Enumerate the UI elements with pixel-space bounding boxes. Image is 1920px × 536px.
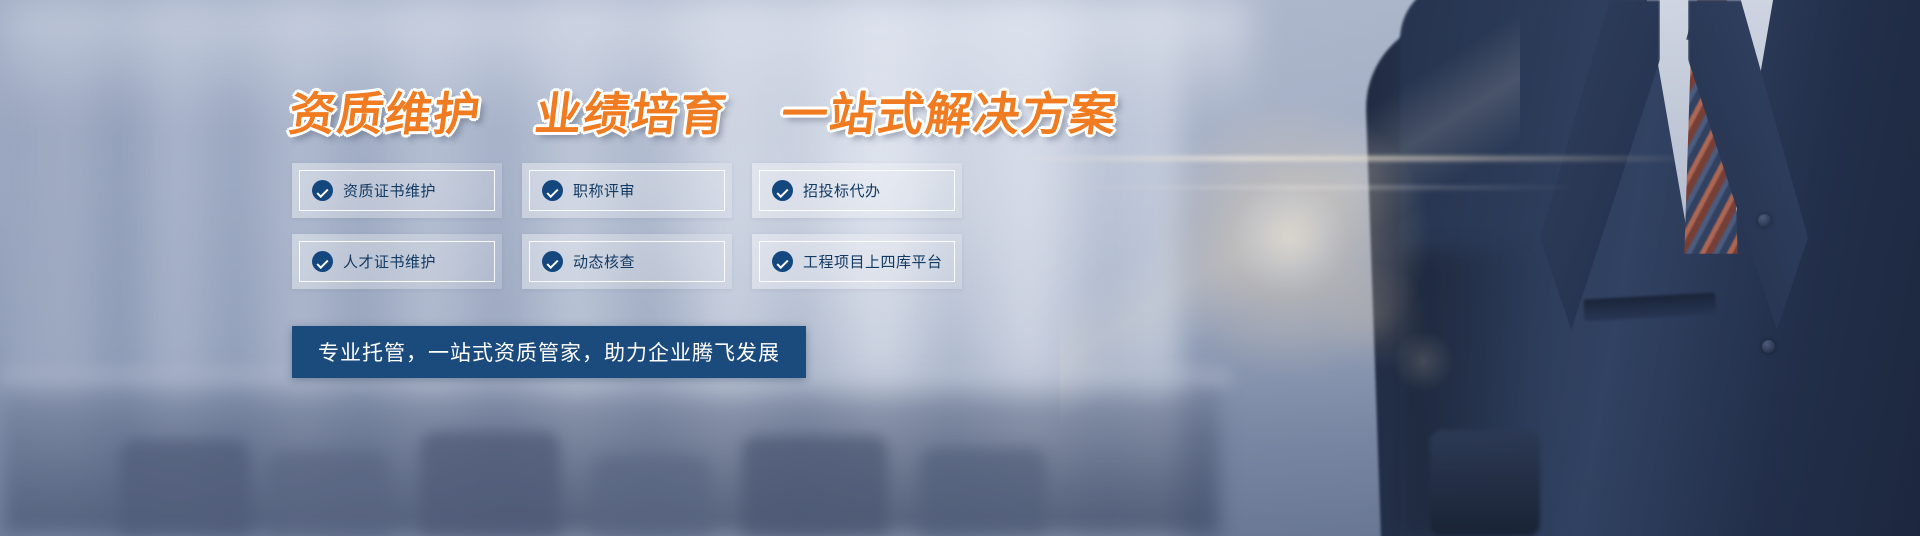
- feature-card-inner: 职称评审: [529, 170, 725, 211]
- check-circle-icon: [772, 251, 793, 272]
- feature-grid: 资质证书维护 职称评审 招投标代办 人才证书维护: [292, 163, 962, 289]
- feature-card-inner: 动态核查: [529, 241, 725, 282]
- feature-label: 工程项目上四库平台: [803, 251, 943, 272]
- feature-label: 动态核查: [573, 251, 635, 272]
- check-circle-icon: [772, 180, 793, 201]
- check-circle-icon: [312, 251, 333, 272]
- check-circle-icon: [312, 180, 333, 201]
- feature-label: 职称评审: [573, 180, 635, 201]
- banner-headline: 资质维护 业绩培育 一站式解决方案: [286, 78, 1122, 144]
- feature-card-dynamic-inspection[interactable]: 动态核查: [522, 234, 732, 289]
- suit-sleeve: [1430, 430, 1540, 536]
- banner-content: 资质维护 业绩培育 一站式解决方案 资质证书维护 职称评审 招投标代办: [0, 0, 1100, 536]
- businessman-photo: [1100, 0, 1920, 536]
- banner-tagline: 专业托管，一站式资质管家，助力企业腾飞发展: [292, 326, 806, 378]
- feature-card-bidding-agency[interactable]: 招投标代办: [752, 163, 962, 218]
- feature-card-title-evaluation[interactable]: 职称评审: [522, 163, 732, 218]
- feature-label: 资质证书维护: [343, 180, 436, 201]
- suit-button: [1758, 214, 1771, 227]
- feature-label: 人才证书维护: [343, 251, 436, 272]
- suit-button: [1762, 340, 1775, 353]
- feature-card-inner: 工程项目上四库平台: [759, 241, 955, 282]
- promotional-banner: 资质维护 业绩培育 一站式解决方案 资质证书维护 职称评审 招投标代办: [0, 0, 1920, 536]
- check-circle-icon: [542, 251, 563, 272]
- feature-card-inner: 人才证书维护: [299, 241, 495, 282]
- feature-card-qualification-certificate-maintenance[interactable]: 资质证书维护: [292, 163, 502, 218]
- feature-card-inner: 资质证书维护: [299, 170, 495, 211]
- check-circle-icon: [542, 180, 563, 201]
- feature-card-talent-certificate-maintenance[interactable]: 人才证书维护: [292, 234, 502, 289]
- feature-label: 招投标代办: [803, 180, 881, 201]
- feature-card-inner: 招投标代办: [759, 170, 955, 211]
- feature-card-four-database-platform[interactable]: 工程项目上四库平台: [752, 234, 962, 289]
